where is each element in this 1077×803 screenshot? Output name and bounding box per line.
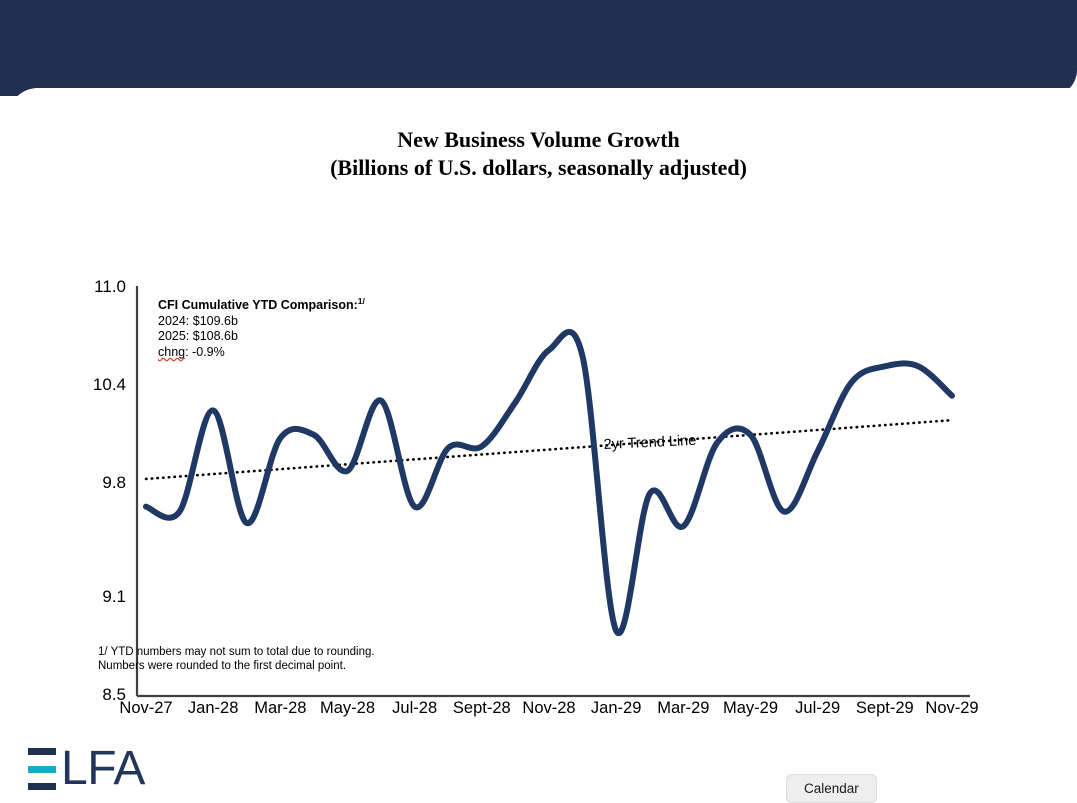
chart-footnote: 1/ YTD numbers may not sum to total due … (98, 645, 375, 673)
footer (0, 712, 1077, 802)
y-axis-tick-label: 11.0 (66, 277, 126, 297)
elfa-wordmark: LFA (61, 748, 145, 790)
ytd-comparison-annotation: CFI Cumulative YTD Comparison:1/ 2024: $… (158, 294, 365, 360)
y-axis-tick-label: 8.5 (66, 685, 126, 705)
annotation-heading-text: CFI Cumulative YTD Comparison: (158, 298, 358, 312)
calendar-button[interactable]: Calendar (786, 774, 877, 803)
elfa-bar-bottom (28, 783, 56, 790)
y-axis-tick-label: 9.1 (66, 587, 126, 607)
annotation-row-2025: 2025: $108.6b (158, 329, 365, 345)
annotation-chng-value: : -0.9% (185, 345, 225, 359)
plot-svg (0, 88, 1077, 698)
header-banner (0, 0, 1077, 96)
y-axis-tick-label: 9.8 (66, 473, 126, 493)
footnote-line-1: 1/ YTD numbers may not sum to total due … (98, 645, 375, 659)
annotation-chng-label: chng (158, 345, 185, 359)
annotation-row-2024: 2024: $109.6b (158, 314, 365, 330)
elfa-bar-top (28, 748, 56, 755)
y-axis-tick-label: 10.4 (66, 375, 126, 395)
footnote-line-2: Numbers were rounded to the first decima… (98, 659, 375, 673)
annotation-heading: CFI Cumulative YTD Comparison:1/ (158, 294, 365, 314)
elfa-logo: LFA (28, 748, 145, 790)
new-business-volume-line (146, 332, 952, 633)
annotation-row-change: chng: -0.9% (158, 345, 365, 361)
elfa-e-mark-icon (28, 748, 56, 790)
annotation-heading-superscript: 1/ (358, 296, 365, 306)
elfa-bar-middle (28, 766, 56, 773)
plot-area: 8.59.19.810.411.0 Nov-27Jan-28Mar-28May-… (0, 88, 1077, 698)
chart-container: New Business Volume Growth (Billions of … (0, 88, 1077, 698)
